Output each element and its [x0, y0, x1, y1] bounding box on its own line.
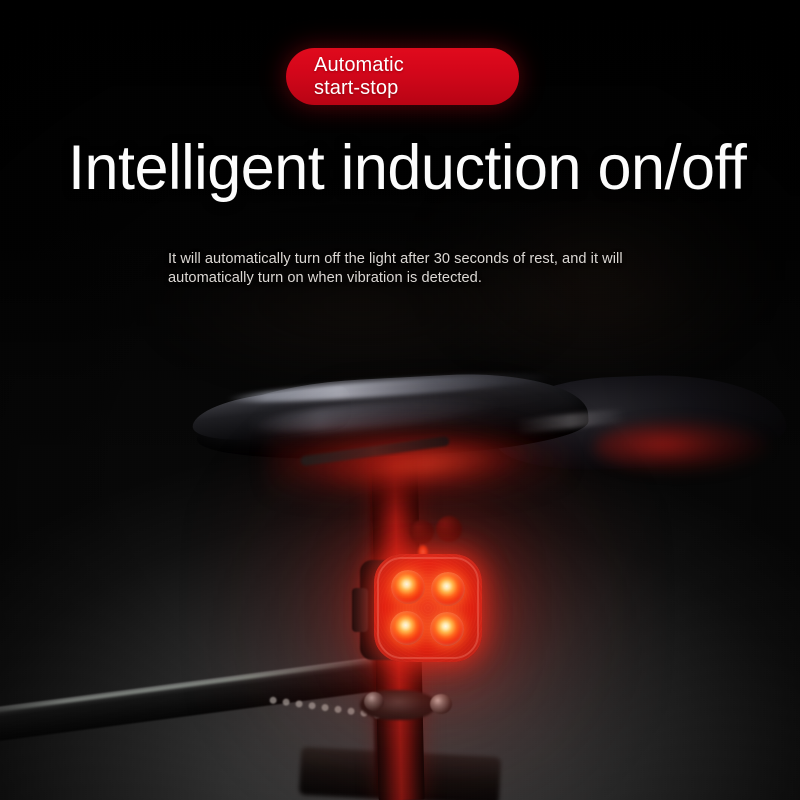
- product-poster: Automatic start-stop Intelligent inducti…: [0, 0, 800, 800]
- page-title: Intelligent induction on/off: [68, 132, 747, 204]
- feature-badge: Automatic start-stop: [286, 48, 519, 105]
- background-edge-vignette: [0, 0, 800, 800]
- feature-description: It will automatically turn off the light…: [168, 250, 648, 287]
- feature-badge-label: Automatic start-stop: [314, 54, 404, 100]
